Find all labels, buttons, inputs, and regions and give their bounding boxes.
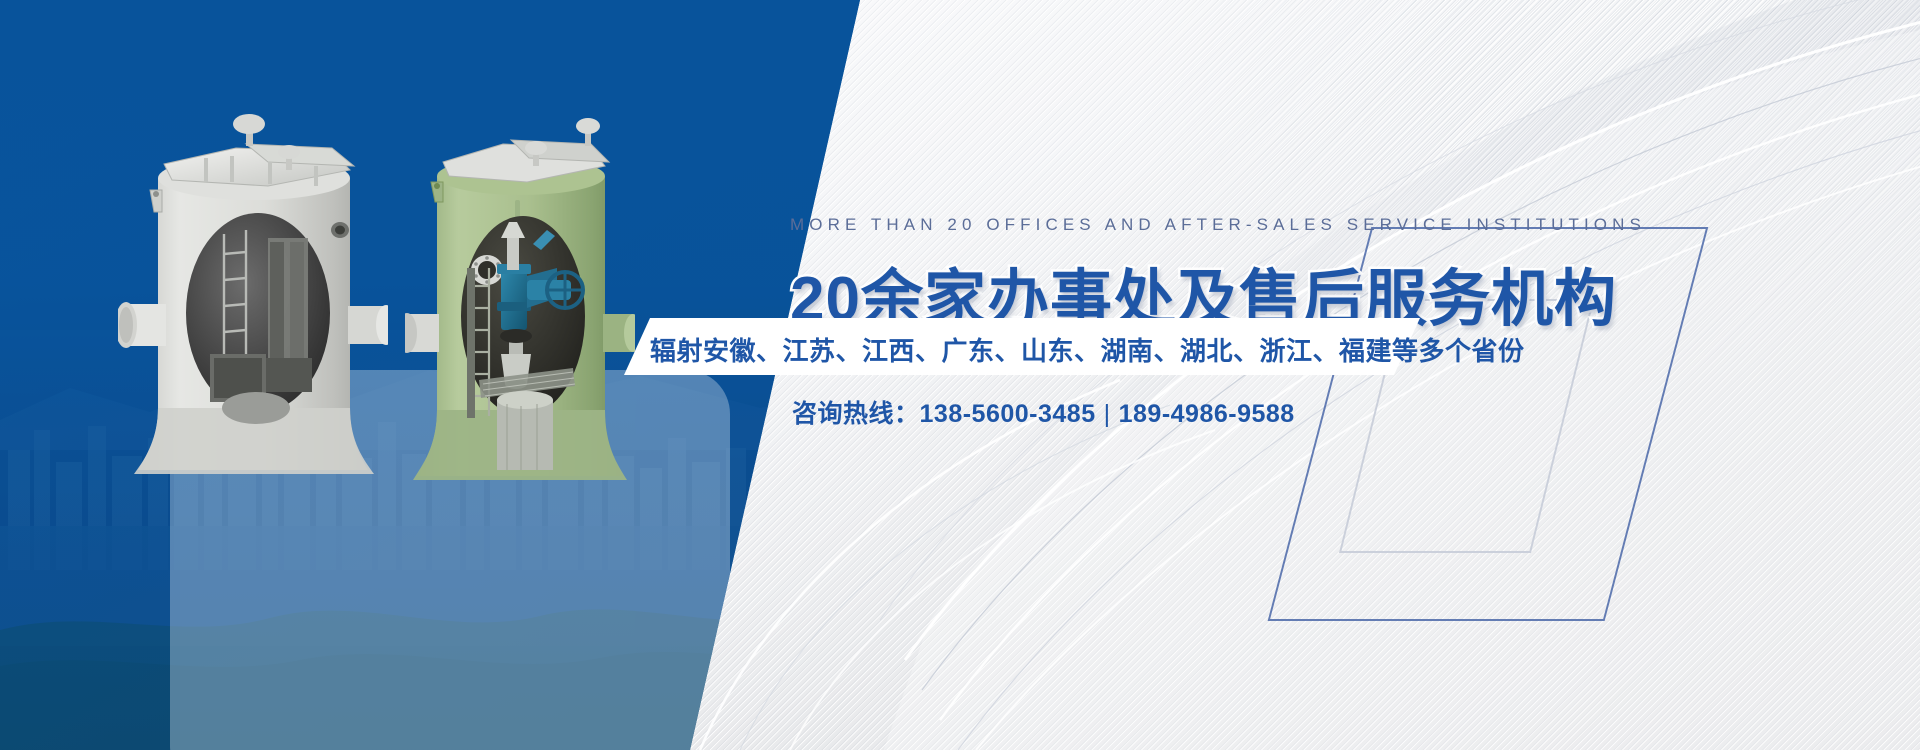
province-coverage-text: 辐射安徽、江苏、江西、广东、山东、湖南、湖北、浙江、福建等多个省份 [650, 331, 1525, 368]
product-image-green-pump-station [405, 118, 635, 498]
hotline-row: 咨询热线：138-5600-3485|189-4986-9588 [792, 394, 1295, 430]
promo-banner: MORE THAN 20 OFFICES AND AFTER-SALES SER… [0, 0, 1920, 750]
product-image-grey-pump-station [118, 108, 388, 498]
hotline-secondary-number[interactable]: 189-4986-9588 [1119, 400, 1295, 428]
hotline-primary-number[interactable]: 138-5600-3485 [920, 400, 1096, 428]
english-subtitle: MORE THAN 20 OFFICES AND AFTER-SALES SER… [790, 215, 1646, 235]
hotline-separator: | [1096, 400, 1119, 428]
hotline-label: 咨询热线： [792, 400, 920, 428]
